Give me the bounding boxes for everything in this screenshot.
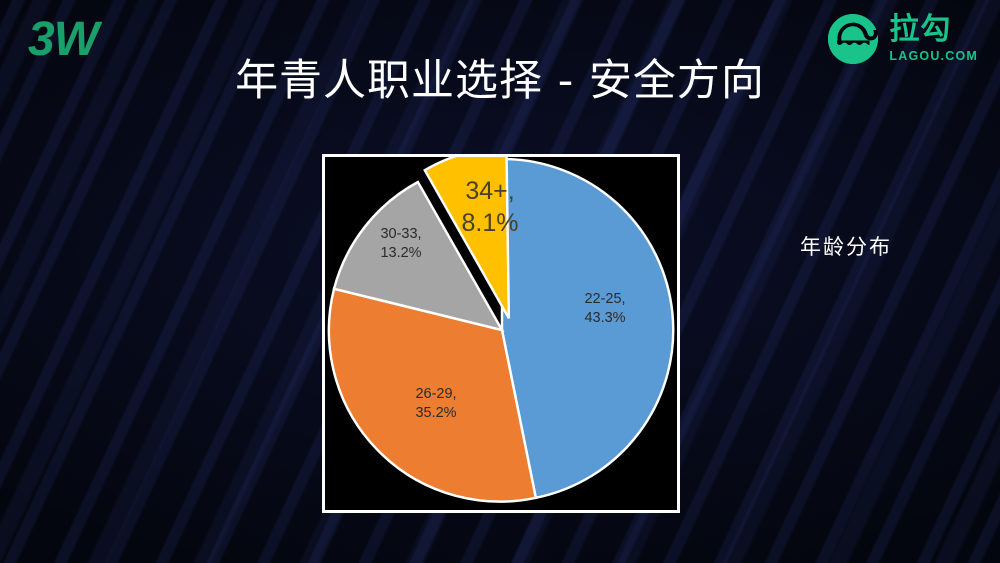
pie-chart-container: 22-25, 43.3% 26-29, 35.2% 30-33, 13.2% 3… <box>322 154 680 513</box>
pie-slice-22-25 <box>502 159 673 498</box>
slide-canvas: 3W <box>0 0 1000 563</box>
chart-caption: 年龄分布 <box>800 231 892 261</box>
pie-chart-svg <box>325 157 677 510</box>
page-title: 年青人职业选择 - 安全方向 <box>0 46 1000 108</box>
lagou-logo-cn-text: 拉勾 <box>889 15 951 45</box>
pie-chart-plot-area: 22-25, 43.3% 26-29, 35.2% 30-33, 13.2% 3… <box>325 157 677 510</box>
